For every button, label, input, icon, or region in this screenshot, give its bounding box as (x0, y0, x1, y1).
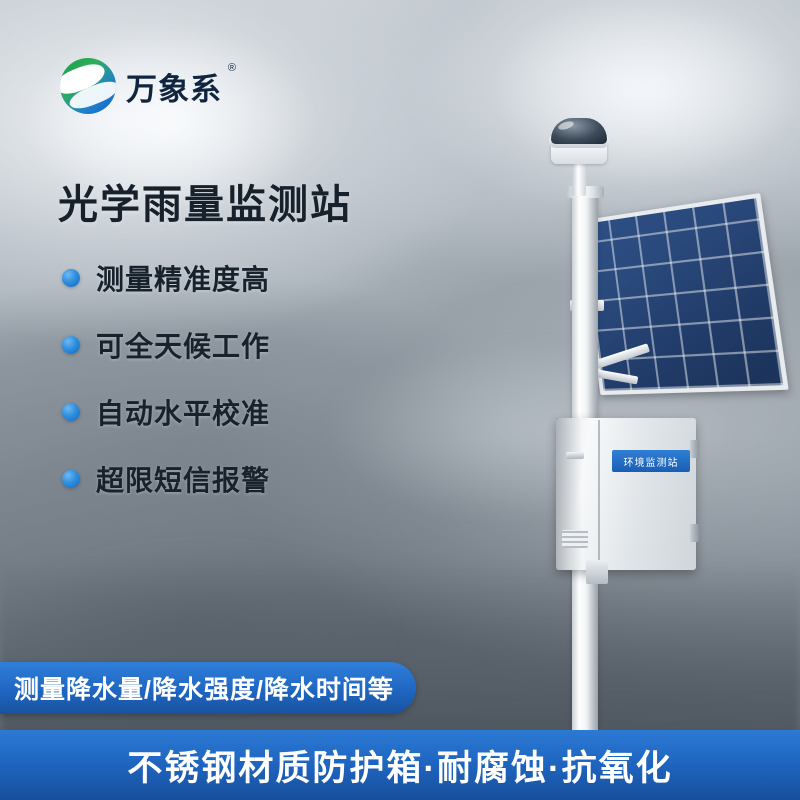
measurement-ribbon-text: 测量降水量/降水强度/降水时间等 (14, 670, 394, 706)
feature-label: 可全天候工作 (96, 325, 270, 365)
list-item: 测量精准度高 (62, 258, 270, 298)
registered-mark: ® (228, 62, 237, 74)
page-title: 光学雨量监测站 (58, 172, 352, 230)
feature-label: 超限短信报警 (96, 459, 270, 499)
blue-dot-icon (62, 403, 80, 421)
feature-label: 测量精准度高 (96, 258, 270, 298)
list-item: 可全天候工作 (62, 325, 270, 365)
globe-swoosh-icon (60, 58, 116, 114)
product-banner: 环境监测站 万象系 ® 光学雨量监测站 测量精准度高 可全天候工作 自动水平校准… (0, 0, 800, 800)
measurement-ribbon: 测量降水量/降水强度/降水时间等 (0, 662, 416, 714)
blue-dot-icon (62, 336, 80, 354)
blue-dot-icon (62, 269, 80, 287)
list-item: 超限短信报警 (62, 459, 270, 499)
bottom-banner-text: 不锈钢材质防护箱·耐腐蚀·抗氧化 (127, 740, 672, 791)
brand-name-text: 万象系 (126, 72, 222, 107)
cloud-shape-top-right (430, 0, 800, 230)
feature-label: 自动水平校准 (96, 392, 270, 432)
brand-name: 万象系 ® (126, 64, 222, 109)
list-item: 自动水平校准 (62, 392, 270, 432)
blue-dot-icon (62, 470, 80, 488)
bottom-banner: 不锈钢材质防护箱·耐腐蚀·抗氧化 (0, 730, 800, 800)
brand-logo: 万象系 ® (60, 58, 222, 114)
feature-list: 测量精准度高 可全天候工作 自动水平校准 超限短信报警 (62, 258, 270, 499)
